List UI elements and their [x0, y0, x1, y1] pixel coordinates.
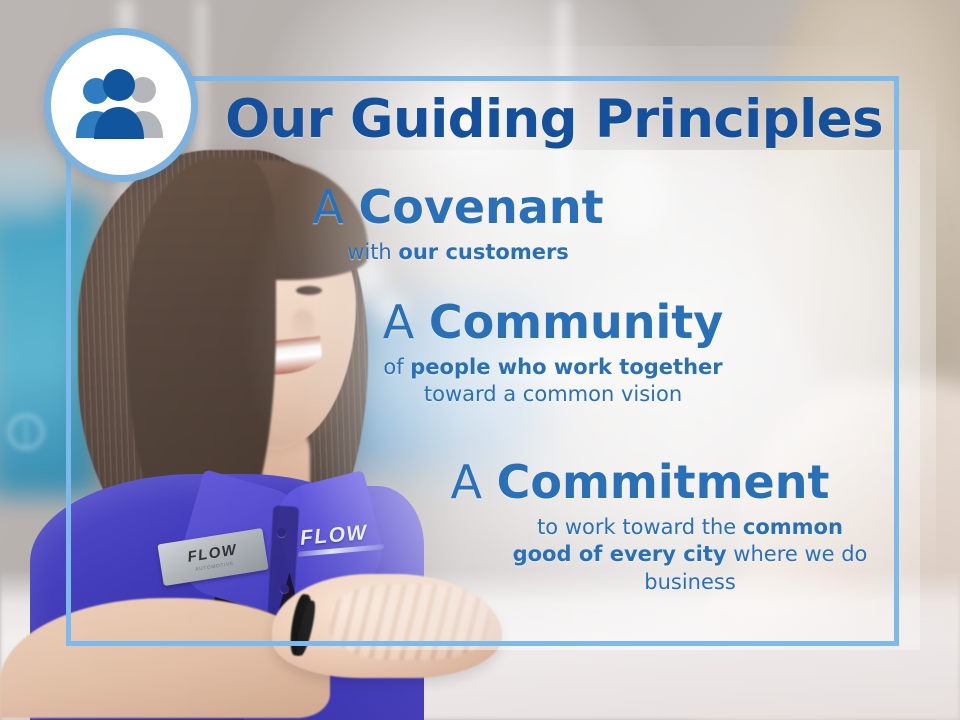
principle-covenant-lead: A	[312, 180, 343, 234]
principle-covenant-title: A Covenant	[248, 183, 668, 232]
shirt-button	[277, 528, 286, 537]
poster-canvas: FLOW AUTOMOTIVE FLOW Our Guiding Princip…	[0, 0, 960, 720]
principle-community-sub-part-1: of	[383, 355, 410, 379]
employee-nose	[292, 310, 314, 340]
principle-community-subtitle: of people who work together toward a com…	[332, 354, 774, 409]
principle-commitment-lead: A	[451, 455, 482, 509]
background-wall-panel	[0, 150, 60, 220]
shirt-button	[280, 584, 289, 593]
principle-covenant: A Covenant with our customers	[248, 183, 668, 266]
principle-covenant-sub-part-2: our customers	[398, 240, 568, 264]
principle-covenant-subtitle: with our customers	[248, 239, 668, 267]
people-group-icon	[69, 68, 173, 142]
principle-covenant-sub-part-1: with	[347, 240, 398, 264]
principle-community-title: A Community	[332, 298, 774, 347]
principle-commitment-keyword: Commitment	[497, 455, 830, 509]
principle-commitment-sub-part-1: to work toward the	[537, 515, 743, 539]
principle-community-keyword: Community	[429, 295, 723, 349]
principle-community-sub-part-3: toward a common vision	[424, 382, 682, 406]
employee-eye	[296, 286, 322, 295]
principle-commitment: A Commitment to work toward the common g…	[406, 458, 874, 597]
page-title: Our Guiding Principles	[214, 92, 894, 148]
principle-community: A Community of people who work together …	[332, 298, 774, 409]
background-brand-emblem	[8, 414, 44, 450]
principle-commitment-title: A Commitment	[406, 458, 874, 507]
principle-covenant-keyword: Covenant	[359, 180, 604, 234]
principle-community-lead: A	[383, 295, 414, 349]
people-group-icon-badge	[44, 28, 198, 182]
principle-community-sub-part-2: people who work together	[410, 355, 722, 379]
principle-commitment-subtitle: to work toward the common good of every …	[506, 514, 874, 597]
